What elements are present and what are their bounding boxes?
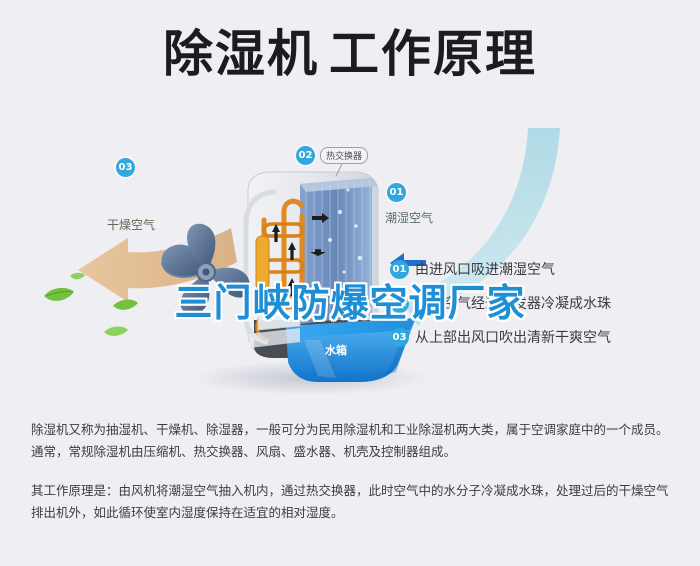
badge-02-heat-exchanger: 02 — [296, 146, 315, 165]
title-part-1: 除湿机 — [163, 25, 319, 83]
label-water-tank: 水箱 — [325, 342, 347, 358]
badge-03-dry-air: 03 — [116, 158, 135, 177]
paragraph-2: 其工作原理是：由风机将潮湿空气抽入机内，通过热交换器，此时空气中的水分子冷凝成水… — [31, 480, 676, 524]
label-heat-exchanger: 热交换器 — [320, 147, 368, 164]
badge-01-humid-air: 01 — [387, 183, 406, 202]
step-label: 潮湿空气经过蒸发器冷凝成水珠 — [415, 293, 611, 313]
step-label: 由进风口吸进潮湿空气 — [415, 259, 555, 279]
list-item: 01 由进风口吸进潮湿空气 — [390, 254, 690, 284]
step-number-badge: 03 — [390, 328, 409, 347]
step-number-badge: 01 — [390, 260, 409, 279]
steps-list: 01 由进风口吸进潮湿空气 02 潮湿空气经过蒸发器冷凝成水珠 03 从上部出风… — [390, 254, 690, 356]
label-dry-air: 干燥空气 — [107, 216, 155, 233]
step-label: 从上部出风口吹出清新干爽空气 — [415, 327, 611, 347]
title-wrapper: 除湿机工作原理 — [163, 22, 537, 86]
label-humid-air: 潮湿空气 — [385, 209, 433, 226]
step-number-badge: 02 — [390, 294, 409, 313]
list-item: 03 从上部出风口吹出清新干爽空气 — [390, 322, 690, 352]
page-title: 除湿机工作原理 — [0, 22, 700, 86]
fan-propeller — [162, 224, 250, 314]
list-item: 02 潮湿空气经过蒸发器冷凝成水珠 — [390, 288, 690, 318]
paragraph-1: 除湿机又称为抽湿机、干燥机、除湿器，一般可分为民用除湿机和工业除湿机两大类，属于… — [31, 419, 676, 463]
title-part-2: 工作原理 — [329, 25, 537, 83]
page-root: 除湿机工作原理 — [0, 0, 700, 566]
body-copy: 除湿机又称为抽湿机、干燥机、除湿器，一般可分为民用除湿机和工业除湿机两大类，属于… — [31, 419, 676, 524]
heat-exchanger-block — [300, 178, 378, 324]
